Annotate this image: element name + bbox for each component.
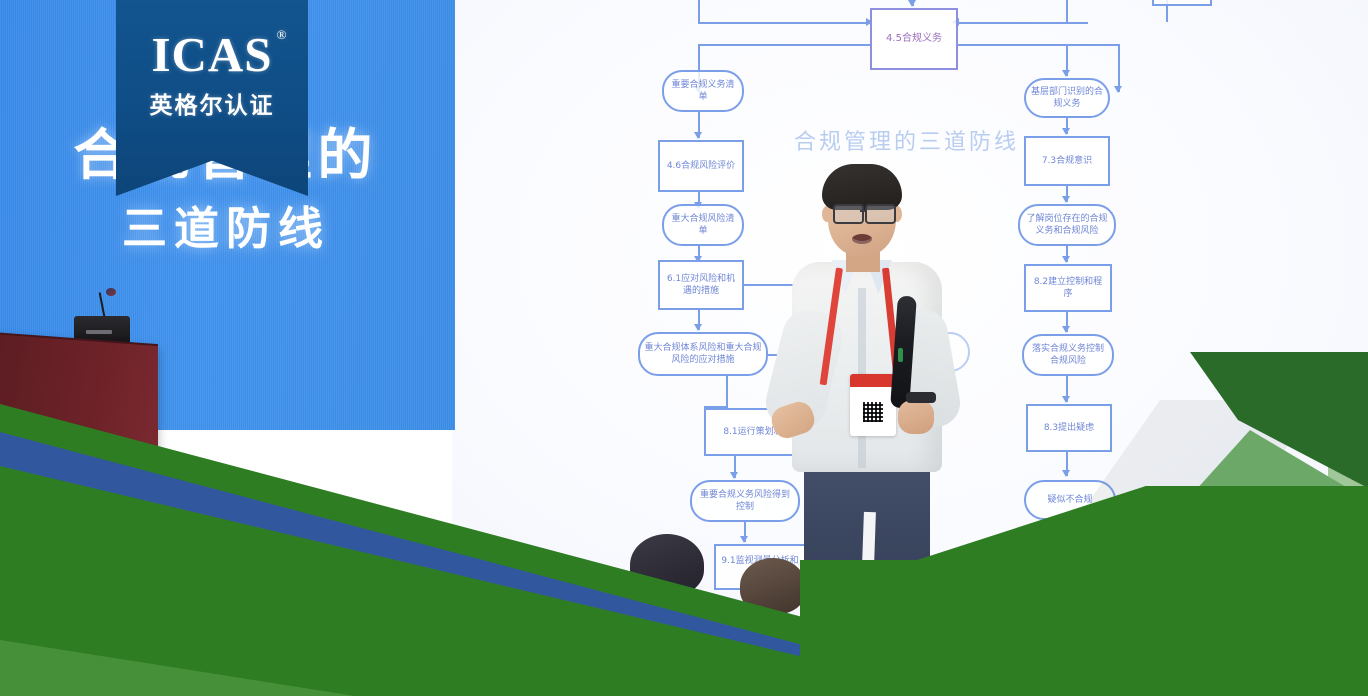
flow-arrow-icon	[694, 324, 702, 331]
brand-wordmark: ICAS®	[151, 30, 272, 79]
flow-arrow-icon	[740, 536, 748, 543]
flow-arrow-icon	[1062, 326, 1070, 333]
flow-node-compliance-awareness: 7.3合规意识	[1024, 136, 1110, 186]
eyeglasses-right-lens-icon	[865, 204, 896, 224]
flow-line	[958, 22, 1088, 24]
flow-node-establish-controls: 8.2建立控制和程序	[1024, 264, 1112, 312]
badge-header-bar	[850, 374, 896, 387]
flow-node-raise-concerns: 8.3提出疑虑	[1026, 404, 1112, 452]
flow-arrow-icon	[1062, 70, 1070, 77]
flow-line	[1118, 44, 1120, 92]
flow-line	[698, 0, 700, 24]
speaker	[770, 160, 970, 610]
flow-node-risk-assessment: 4.6合规风险评价	[658, 140, 744, 192]
flow-line	[698, 44, 870, 46]
flow-line	[958, 44, 1120, 46]
flow-arrow-icon	[1062, 128, 1070, 135]
eyeglasses-bridge	[860, 210, 865, 212]
flow-arrow-icon	[908, 0, 916, 7]
wristwatch-icon	[906, 392, 936, 403]
flow-arrow-icon	[694, 132, 702, 139]
overlay-green-fill-right	[800, 560, 1368, 696]
flow-arrow-icon	[1062, 396, 1070, 403]
conference-badge	[850, 374, 896, 436]
podium-monitor-strip	[86, 330, 112, 334]
flow-arrow-icon	[1062, 196, 1070, 203]
brand-text: ICAS	[151, 27, 272, 82]
flowchart-heading: 合规管理的三道防线	[794, 124, 1019, 156]
flow-line	[726, 376, 728, 408]
flow-node-major-risk-list: 重大合规风险清单	[662, 204, 744, 246]
eyeglasses-left-lens-icon	[833, 204, 864, 224]
brand-chinese-name: 英格尔认证	[150, 86, 275, 120]
flow-arrow-icon	[1114, 86, 1122, 93]
flow-line	[698, 22, 868, 24]
flow-node-compliance-obligation: 4.5合规义务	[870, 8, 958, 70]
flow-line	[1066, 0, 1068, 24]
qr-code-icon	[863, 402, 883, 422]
flow-node-dept-identified-obligation: 基层部门识别的合规义务	[1024, 78, 1110, 118]
podium-microphone-head-icon	[106, 288, 116, 296]
presentation-photo: 合规管理的 三道防线 ICAS® 英格尔认证 合规管理的三道防线 4.5合规义务	[0, 0, 1368, 696]
flow-arrow-icon	[1062, 470, 1070, 477]
registered-trademark-icon: ®	[277, 28, 288, 41]
speaker-mouth	[852, 234, 872, 244]
microphone-led-indicator	[898, 348, 903, 362]
slide-title-line2: 三道防线	[0, 206, 452, 251]
flow-node-implement-obligation-control: 落实合规义务控制合规风险	[1022, 334, 1114, 376]
flow-node-key-obligation-list: 重要合规义务清单	[662, 70, 744, 112]
flow-node-system-risk-response: 重大合规体系风险和重大合规风险的应对措施	[638, 332, 768, 376]
flow-node-offscreen-top	[1152, 0, 1212, 6]
speaker-left-hand	[898, 400, 934, 434]
flow-arrow-icon	[730, 472, 738, 479]
flow-arrow-icon	[1062, 256, 1070, 263]
flow-node-risk-response-measures: 6.1应对风险和机遇的措施	[658, 260, 744, 310]
flow-node-understand-position-obligation: 了解岗位存在的合规义务和合规风险	[1018, 204, 1116, 246]
